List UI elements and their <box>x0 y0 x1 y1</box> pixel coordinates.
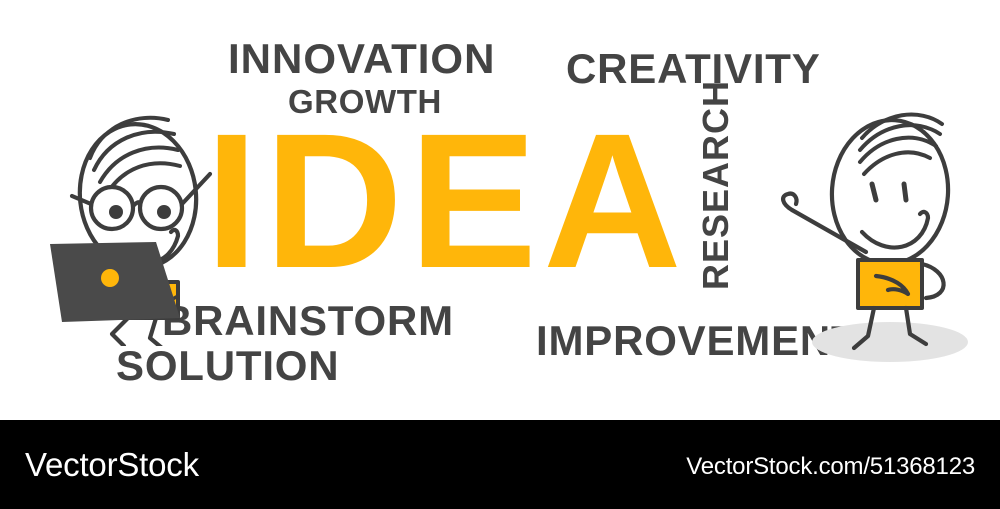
word-idea-headline: IDEA <box>205 105 688 297</box>
word-creativity: CREATIVITY <box>566 48 821 90</box>
word-solution: SOLUTION <box>116 345 339 387</box>
vectorstock-logo-text: VectorStock <box>25 446 199 484</box>
arm-right <box>922 264 944 298</box>
ground-shadow <box>812 322 968 362</box>
eye-right <box>904 184 906 200</box>
legs <box>112 318 162 346</box>
vectorstock-url-text: VectorStock.com/51368123 <box>686 453 975 481</box>
left-character-illustration <box>28 96 248 346</box>
word-innovation: INNOVATION <box>228 38 495 80</box>
illustration-canvas: INNOVATION GROWTH CREATIVITY IDEA RESEAR… <box>0 0 1000 420</box>
right-character-illustration <box>780 100 1000 370</box>
word-research: RESEARCH <box>698 80 734 290</box>
shirt <box>858 260 922 308</box>
eye-right <box>157 205 171 219</box>
screenshot-root: INNOVATION GROWTH CREATIVITY IDEA RESEAR… <box>0 0 1000 509</box>
eye-left <box>109 205 123 219</box>
